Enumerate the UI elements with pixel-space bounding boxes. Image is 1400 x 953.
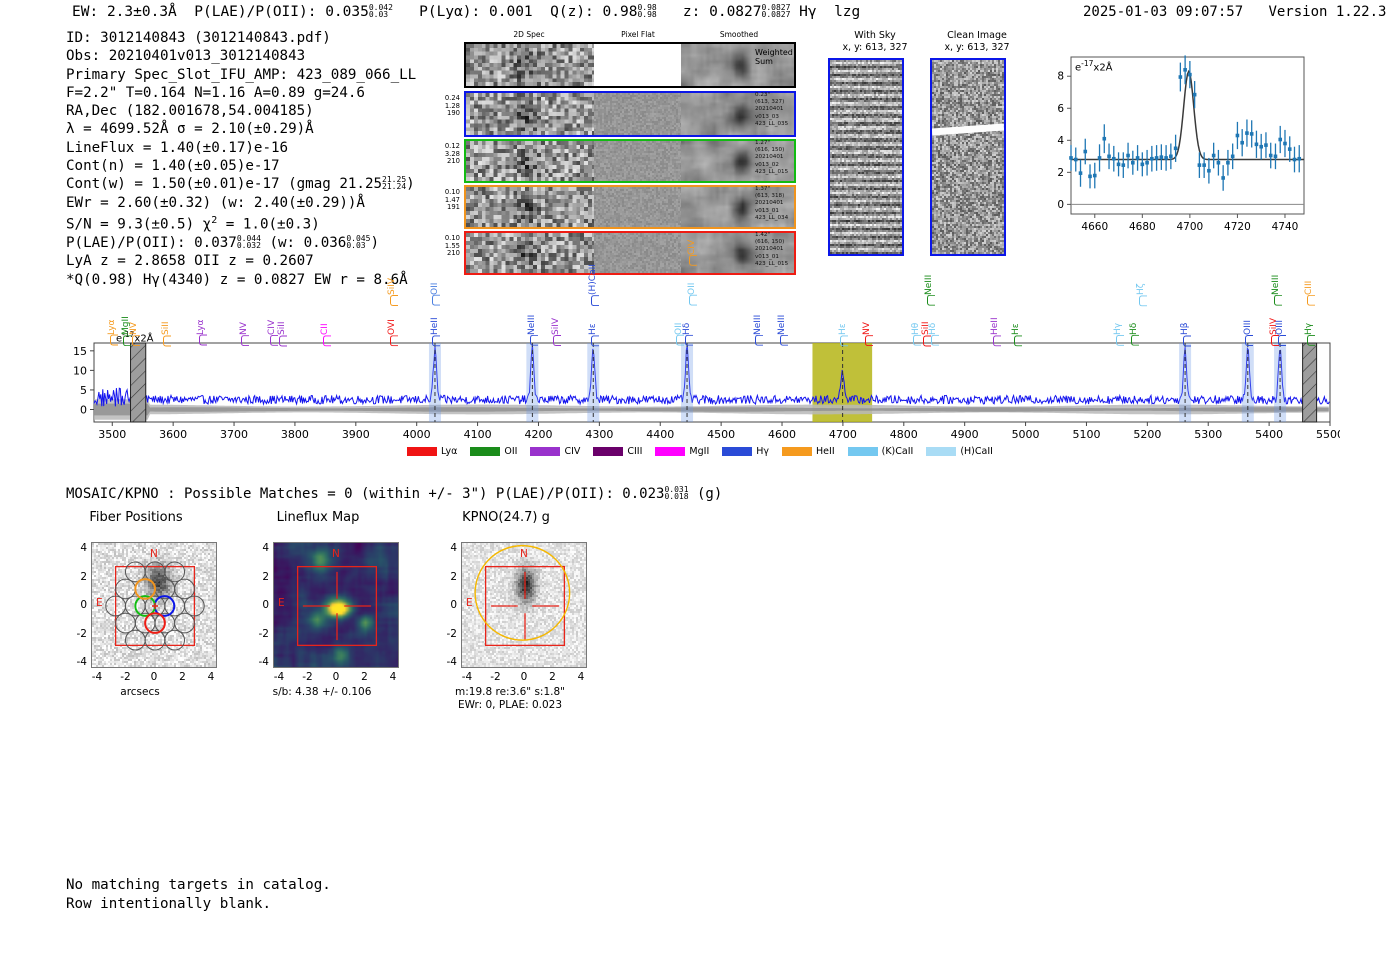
spec2d-right-label: 1.27" (755, 140, 825, 147)
emission-line-marker: Hε (588, 323, 598, 335)
spectrum-x-tick: 4700 (829, 428, 857, 441)
cutout-image (930, 58, 1006, 256)
legend-swatch (470, 447, 500, 456)
spectrum-x-tick: 4900 (951, 428, 979, 441)
spectrum-x-tick: 4100 (464, 428, 492, 441)
legend-label: OII (504, 446, 517, 457)
spectrum-y-tick: 0 (80, 403, 87, 416)
panel-y-tick: 4 (433, 542, 457, 554)
spec2d-right-label: 0.23" (755, 92, 825, 99)
footer-note: No matching targets in catalog. Row inte… (66, 876, 331, 913)
cutout-title-text: With Sky (820, 30, 930, 42)
emission-line-bracket (923, 335, 931, 346)
panel-x-tick: -2 (119, 671, 133, 683)
emission-line-label: Hδ (928, 323, 938, 335)
emission-line-label: OVI (387, 319, 397, 335)
legend-label: CIII (627, 446, 642, 457)
legend-item: MgII (655, 446, 709, 457)
lineflux-line: LineFlux = 1.40(±0.17)e-16 (66, 139, 416, 157)
panel-x-tick: 4 (386, 671, 400, 683)
emission-line-bracket (432, 335, 440, 346)
spectrum-x-tick: 4200 (524, 428, 552, 441)
spec2d-right-label: 20210401 (755, 106, 825, 113)
weighted-sum-label-line2: Sum (755, 57, 793, 66)
emission-line-bracket (199, 335, 207, 346)
emission-line-marker: Hγ (1113, 323, 1123, 335)
emission-line-marker: OIII (1243, 320, 1253, 335)
spectrum-legend: LyαOIICIVCIIIMgIIHγHeII(K)CaII(H)CaII (60, 446, 1340, 457)
spec2d-row (464, 139, 796, 183)
legend-swatch (407, 447, 437, 456)
panel-x-tick: -4 (460, 671, 474, 683)
emission-line-marker: Hδ (1129, 323, 1139, 335)
emission-line-marker: OVI (387, 319, 397, 335)
panel-overlay (274, 543, 399, 668)
emission-line-bracket (1183, 335, 1191, 346)
emission-line-marker: Lyα (196, 320, 206, 335)
obs-line: Obs: 20210401v013_3012140843 (66, 47, 416, 65)
legend-label: (K)CaII (882, 446, 914, 457)
emission-line-marker: Lyα (107, 320, 117, 335)
emission-line-marker: CIII (1304, 281, 1314, 295)
legend-label: Hγ (756, 446, 769, 457)
emission-line-label: Lyα (107, 320, 117, 335)
panel-x-tick: 4 (574, 671, 588, 683)
emission-line-marker: HeII (430, 317, 440, 335)
spectrum-x-tick: 3700 (220, 428, 248, 441)
emission-line-bracket (553, 335, 561, 346)
panel-y-tick: 2 (433, 571, 457, 583)
compass-east: E (278, 597, 285, 609)
emission-line-label: NV (129, 322, 139, 335)
emission-line-label: (H)CaII (588, 264, 598, 295)
spec2d-right-label: (616, 150) (755, 239, 825, 246)
emission-line-marker: OII (687, 283, 697, 295)
minichart-x-tick: 4700 (1177, 221, 1204, 233)
emission-line-bracket (840, 335, 848, 346)
emission-line-label: CIII (1304, 281, 1314, 295)
panel-y-tick: 0 (433, 599, 457, 611)
emission-line-label: OII (430, 283, 440, 295)
spec2d-row-right-labels: 1.37"(613, 318)20210401v013_01423_LL_034 (755, 186, 825, 222)
weighted-sum-label: WeightedSum (755, 48, 793, 66)
panel-x-tick: -4 (90, 671, 104, 683)
panel-caption: s/b: 4.38 +/- 0.106 (231, 686, 413, 699)
legend-swatch (782, 447, 812, 456)
spectrum-x-tick: 4400 (646, 428, 674, 441)
mosaic-suffix: (g) (697, 486, 722, 502)
emission-line-bracket (432, 295, 440, 306)
spectrum-x-tick: 4300 (585, 428, 613, 441)
spec2d-row-left-labels: 0.123.28210 (420, 143, 460, 166)
emission-line-marker: NeIII (527, 315, 537, 335)
legend-item: Lyα (407, 446, 457, 457)
id-line: ID: 3012140843 (3012140843.pdf) (66, 29, 416, 47)
legend-swatch (722, 447, 752, 456)
emission-line-label: NeIII (1271, 275, 1281, 295)
emission-line-marker: Hζ (1136, 283, 1146, 295)
emission-line-marker: HeII (990, 317, 1000, 335)
source-info-block: ID: 3012140843 (3012140843.pdf) Obs: 202… (66, 29, 416, 289)
emission-line-marker: NeIII (753, 315, 763, 335)
emission-line-bracket (163, 335, 171, 346)
compass-north: N (520, 548, 528, 560)
minichart-y-tick: 4 (1057, 135, 1064, 147)
z-bounds: 0.08270.0827 (762, 4, 791, 18)
timestamp: 2025-01-03 09:07:57 (1083, 4, 1243, 20)
emission-line-bracket (591, 335, 599, 346)
panel-x-tick: -2 (489, 671, 503, 683)
emission-line-bracket (865, 335, 873, 346)
plae-value: 0.035 (325, 4, 369, 20)
qz-bounds: 0.980.98 (637, 4, 656, 18)
primary-spec-line: Primary Spec_Slot_IFU_AMP: 423_089_066_L… (66, 66, 416, 84)
emission-line-label: SiII (277, 321, 287, 335)
spec2d-right-label: v013_01 (755, 254, 825, 261)
panel-y-tick: -2 (433, 628, 457, 640)
radec-line: RA,Dec (182.001678,54.004185) (66, 102, 416, 120)
spectrum-x-tick: 4500 (707, 428, 735, 441)
emission-line-label: Hζ (1136, 283, 1146, 295)
spec2d-right-label: 20210401 (755, 154, 825, 161)
emission-line-bracket (390, 335, 398, 346)
emission-line-marker: SiII (277, 321, 287, 335)
panel-x-tick: 2 (358, 671, 372, 683)
emission-line-label: Hγ (1113, 323, 1123, 335)
plae-detail-wbounds: 0.0450.03 (346, 235, 370, 249)
panel-y-tick: -4 (245, 656, 269, 668)
panel-y-tick: -2 (245, 628, 269, 640)
spectrum-x-tick: 3800 (281, 428, 309, 441)
emission-line-label: CII (320, 323, 330, 335)
spectrum-y-tick: 5 (80, 384, 87, 397)
spec2d-right-label: 1.42" (755, 232, 825, 239)
emission-line-bracket (530, 335, 538, 346)
spec2d-right-label: 20210401 (755, 246, 825, 253)
emission-line-marker: CII (320, 323, 330, 335)
panel-y-tick: -4 (63, 656, 87, 668)
emission-line-bracket (1245, 335, 1253, 346)
minichart-y-tick: 2 (1057, 167, 1064, 179)
spectrum-plot: 3500360037003800390040004100420043004400… (60, 265, 1340, 460)
emission-line-bracket (1274, 295, 1282, 306)
spectrum-y-tick: 15 (73, 345, 87, 358)
emission-line-bracket (132, 335, 140, 346)
spectrum-x-tick: 5200 (1133, 428, 1161, 441)
spec2d-left-label: 210 (420, 158, 460, 166)
panel-x-tick: 0 (147, 671, 161, 683)
spectrum-x-tick: 4600 (768, 428, 796, 441)
emission-line-label: Hβ (1180, 322, 1190, 335)
snr-line: S/N = 9.3(±0.5) χ2 = 1.0(±0.3) (66, 212, 416, 234)
plae-detail-line: P(LAE)/P(OII): 0.0370.0440.032 (w: 0.036… (66, 234, 416, 252)
emission-line-bracket (1307, 295, 1315, 306)
panel-y-tick: 2 (63, 571, 87, 583)
spec2d-right-label: (613, 327) (755, 99, 825, 106)
cutout-title: With Skyx, y: 613, 327 (820, 30, 930, 53)
panel-caption-line1: m:19.8 re:3.6" s:1.8" (419, 686, 601, 699)
panel-y-tick: 0 (63, 599, 87, 611)
plya-label: P(Lyα): (419, 4, 480, 20)
emission-line-bracket (689, 255, 697, 266)
panel-caption-line1: arcsecs (49, 686, 231, 699)
panel-x-tick: 4 (204, 671, 218, 683)
timestamp-version: 2025-01-03 09:07:57 Version 1.22.3 (1083, 4, 1386, 20)
emission-line-label: OIII (1243, 320, 1253, 335)
panel-caption: m:19.8 re:3.6" s:1.8"EWr: 0, PLAE: 0.023 (419, 686, 601, 711)
plae-label: P(LAE)/P(OII): (194, 4, 316, 20)
emission-line-label: Hδ (682, 323, 692, 335)
emission-line-marker: SiIV (551, 318, 561, 335)
emission-line-bracket (1139, 295, 1147, 306)
qz-value: 0.98 (603, 4, 638, 20)
panel-image (461, 542, 587, 668)
spectrum-x-tick: 4000 (403, 428, 431, 441)
spec2d-row-right-labels: 1.27"(616, 150)20210401v013_02423_LL_015 (755, 140, 825, 176)
ew-value: 2.3±0.3Å (107, 4, 177, 20)
panel-image (91, 542, 217, 668)
version-label: Version 1.22.3 (1268, 4, 1386, 20)
emission-line-label: OIII (1275, 320, 1285, 335)
panel-caption: arcsecs (49, 686, 231, 699)
emission-line-label: NeIII (527, 315, 537, 335)
emission-line-bracket (931, 335, 939, 346)
spec2d-row (464, 185, 796, 229)
emission-line-bracket (591, 295, 599, 306)
ewr-line: EWr = 2.60(±0.32) (w: 2.40(±0.29))Å (66, 194, 416, 212)
spec2d-left-label: 210 (420, 250, 460, 258)
emission-line-bracket (927, 295, 935, 306)
emission-line-label: HeII (430, 317, 440, 335)
panel-caption-line2: EWr: 0, PLAE: 0.023 (419, 699, 601, 712)
panel-y-tick: 4 (63, 542, 87, 554)
minichart-y-tick: 8 (1057, 71, 1064, 83)
spec2d-row-right-labels: 0.23"(613, 327)20210401v013_03423_LL_035 (755, 92, 825, 128)
legend-item: CIV (530, 446, 580, 457)
mosaic-plae-bounds: 0.0310.018 (664, 486, 688, 500)
spec2d-right-label: 1.37" (755, 186, 825, 193)
spec2d-row-left-labels: 0.241.28190 (420, 95, 460, 118)
emission-line-marker: NeIII (924, 275, 934, 295)
panel-title: KPNO(24.7) g (423, 510, 589, 525)
spec2d-row (464, 91, 796, 137)
spectrum-x-tick: 5500 (1316, 428, 1340, 441)
emission-line-label: NeIII (924, 275, 934, 295)
spec2d-column-title: 2D Spec (464, 30, 594, 39)
emission-line-marker: OIII (1275, 320, 1285, 335)
emission-line-bracket (1278, 335, 1286, 346)
emission-line-bracket (780, 335, 788, 346)
spec2d-right-label: (613, 318) (755, 193, 825, 200)
emission-line-marker: Hθ (911, 323, 921, 335)
panel-x-tick: 2 (546, 671, 560, 683)
panel-x-tick: 0 (329, 671, 343, 683)
panel-overlay (462, 543, 587, 668)
emission-line-marker: SiII (161, 321, 171, 335)
plya-value: 0.001 (489, 4, 533, 20)
emission-line-bracket (1116, 335, 1124, 346)
emission-line-label: HeII (990, 317, 1000, 335)
emission-line-bracket (241, 335, 249, 346)
minichart-x-tick: 4740 (1272, 221, 1299, 233)
emission-line-marker: Hβ (1180, 322, 1190, 335)
emission-line-label: Hε (1011, 323, 1021, 335)
emission-line-bracket (993, 335, 1001, 346)
cont-w-line: Cont(w) = 1.50(±0.01)e-17 (gmag 21.2521.… (66, 175, 416, 193)
emission-line-label: CIV (687, 240, 697, 255)
spec2d-right-label: 20210401 (755, 200, 825, 207)
legend-swatch (530, 447, 560, 456)
spectrum-x-tick: 5300 (1194, 428, 1222, 441)
panel-x-tick: -4 (272, 671, 286, 683)
seeing-line: F=2.2" T=0.164 N=1.16 A=0.89 g=24.6 (66, 84, 416, 102)
minichart-y-tick: 6 (1057, 103, 1064, 115)
emission-line-label: Hε (838, 323, 848, 335)
legend-item: Hγ (722, 446, 769, 457)
emission-line-marker: NeIII (777, 315, 787, 335)
spectrum-y-tick: 10 (73, 364, 87, 377)
emission-line-bracket (755, 335, 763, 346)
emission-line-label: Hε (588, 323, 598, 335)
legend-label: MgII (689, 446, 709, 457)
spec2d-row-left-labels: 0.101.55210 (420, 235, 460, 258)
cutout-coords: x, y: 613, 327 (922, 42, 1032, 54)
two-d-spectra-panel: 2D SpecPixel FlatSmoothedWeightedSum0.24… (420, 30, 760, 255)
spectrum-x-tick: 3500 (98, 428, 126, 441)
emission-line-bracket (270, 335, 278, 346)
plae-bounds: 0.0420.03 (369, 4, 393, 18)
footer-line-1: No matching targets in catalog. (66, 876, 331, 895)
legend-item: OII (470, 446, 517, 457)
emission-line-label: SiII (161, 321, 171, 335)
emission-line-marker: Hγ (1304, 323, 1314, 335)
emission-line-label: SiIV (551, 318, 561, 335)
emission-line-bracket (279, 335, 287, 346)
legend-swatch (593, 447, 623, 456)
emission-line-label: NV (239, 322, 249, 335)
minichart-x-tick: 4720 (1224, 221, 1251, 233)
emission-line-marker: (H)CaII (588, 264, 598, 295)
image-cutouts-panel: With Skyx, y: 613, 327Clean Imagex, y: 6… (820, 30, 1020, 255)
emission-line-marker: NV (239, 322, 249, 335)
emission-line-label: NeIII (753, 315, 763, 335)
emission-line-marker: Hε (838, 323, 848, 335)
gmag-bounds: 21.2521.24 (382, 176, 406, 190)
panel-caption-line1: s/b: 4.38 +/- 0.106 (231, 686, 413, 699)
emission-line-marker: NV (129, 322, 139, 335)
panel-y-tick: -4 (433, 656, 457, 668)
wavelength-line: λ = 4699.52Å σ = 2.10(±0.29)Å (66, 120, 416, 138)
emission-line-label: Hγ (1304, 323, 1314, 335)
emission-line-label: OII (687, 283, 697, 295)
emission-line-marker: NeIII (1271, 275, 1281, 295)
spec2d-right-label: 423_LL_035 (755, 121, 825, 128)
panel-y-tick: 0 (245, 599, 269, 611)
emission-line-bracket (1307, 335, 1315, 346)
emission-line-bracket (110, 335, 118, 346)
minichart-y-tick: 0 (1057, 199, 1064, 211)
legend-label: (H)CaII (960, 446, 993, 457)
spec2d-left-label: 190 (420, 110, 460, 118)
spec2d-right-label: (616, 150) (755, 147, 825, 154)
spec2d-right-label: v013_01 (755, 208, 825, 215)
spec2d-left-label: 191 (420, 204, 460, 212)
emission-line-marker: Hδ (682, 323, 692, 335)
emission-line-bracket (676, 335, 684, 346)
weighted-sum-strip (464, 42, 796, 88)
aperture-image-panels: Fiber PositionsNE-4-2024420-2-4arcsecsLi… (55, 510, 615, 725)
compass-east: E (96, 597, 103, 609)
footer-line-2: Row intentionally blank. (66, 895, 331, 914)
spectrum-x-tick: 3900 (342, 428, 370, 441)
z-label: z: (683, 4, 700, 20)
cont-n-line: Cont(n) = 1.40(±0.05)e-17 (66, 157, 416, 175)
qz-label: Q(z): (550, 4, 594, 20)
compass-north: N (332, 548, 340, 560)
spec2d-right-label: 423_LL_015 (755, 169, 825, 176)
emission-line-bracket (390, 295, 398, 306)
spec2d-row-right-labels: 1.42"(616, 150)20210401v013_01423_LL_015 (755, 232, 825, 268)
cutout-coords: x, y: 613, 327 (820, 42, 930, 54)
legend-item: HeII (782, 446, 835, 457)
line-fit-plot: 4660468047004720474002468 (1035, 45, 1310, 250)
emission-line-label: Hδ (1129, 323, 1139, 335)
emission-line-bracket (123, 335, 131, 346)
spectrum-x-tick: 5100 (1072, 428, 1100, 441)
legend-item: (K)CaII (848, 446, 914, 457)
panel-title: Lineflux Map (235, 510, 401, 525)
panel-image (273, 542, 399, 668)
spec2d-right-label: v013_03 (755, 114, 825, 121)
panel-y-tick: 2 (245, 571, 269, 583)
emission-line-marker: NV (862, 322, 872, 335)
z-value: 0.0827 (709, 4, 761, 20)
compass-north: N (150, 548, 158, 560)
legend-swatch (848, 447, 878, 456)
legend-item: (H)CaII (926, 446, 993, 457)
legend-item: CIII (593, 446, 642, 457)
units-exponent: -17 (1081, 59, 1093, 68)
legend-label: Lyα (441, 446, 457, 457)
emission-line-label: NV (862, 322, 872, 335)
emission-line-marker: CIV (687, 240, 697, 255)
spec2d-right-label: 423_LL_034 (755, 215, 825, 222)
legend-swatch (926, 447, 956, 456)
emission-line-label: Hθ (911, 323, 921, 335)
emission-line-bracket (685, 335, 693, 346)
compass-east: E (466, 597, 473, 609)
emission-line-bracket (913, 335, 921, 346)
spectrum-x-tick: 3600 (159, 428, 187, 441)
z-line-name: Hγ (799, 4, 816, 20)
spectrum-x-tick: 5400 (1255, 428, 1283, 441)
legend-swatch (655, 447, 685, 456)
spec2d-right-label: v013_02 (755, 162, 825, 169)
panel-x-tick: 2 (176, 671, 190, 683)
emission-line-marker: SiIV (387, 278, 397, 295)
spec2d-column-title: Pixel Flat (594, 30, 682, 39)
plae-detail-bounds: 0.0440.032 (237, 235, 261, 249)
line-fit-chart: 4660468047004720474002468e-17x2Å (1035, 45, 1310, 250)
emission-line-marker: OII (430, 283, 440, 295)
mosaic-prefix: MOSAIC/KPNO : Possible Matches = 0 (with… (66, 486, 664, 502)
spectrum-x-tick: 4800 (890, 428, 918, 441)
legend-label: CIV (564, 446, 580, 457)
emission-line-marker: Hε (1011, 323, 1021, 335)
spec2d-row-left-labels: 0.101.47191 (420, 189, 460, 212)
minichart-units-label: e-17x2Å (1075, 59, 1113, 73)
spectrum-x-tick: 5000 (1012, 428, 1040, 441)
